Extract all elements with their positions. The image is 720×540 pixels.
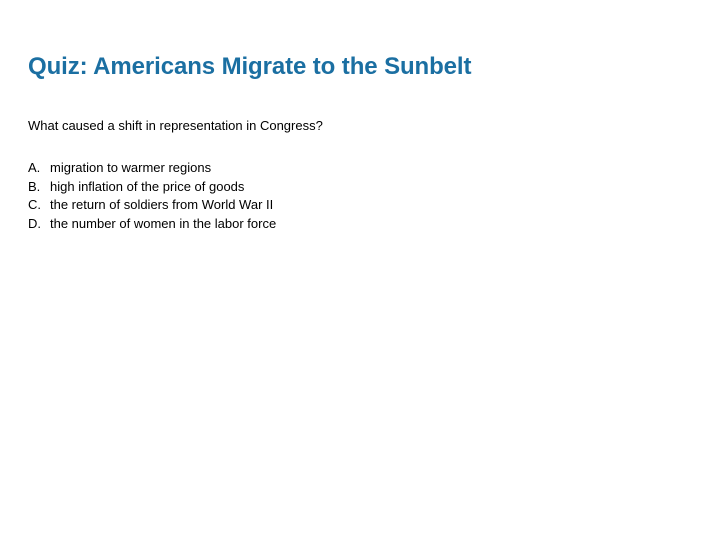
answer-options-list: A. migration to warmer regions B. high i… <box>28 159 688 233</box>
answer-text-a: migration to warmer regions <box>50 159 211 178</box>
answer-text-b: high inflation of the price of goods <box>50 178 244 197</box>
quiz-body: What caused a shift in representation in… <box>28 118 688 233</box>
answer-text-d: the number of women in the labor force <box>50 215 276 234</box>
answer-letter-c: C. <box>28 196 50 215</box>
answer-option-a[interactable]: A. migration to warmer regions <box>28 159 688 178</box>
answer-letter-d: D. <box>28 215 50 234</box>
quiz-slide: Quiz: Americans Migrate to the Sunbelt W… <box>0 0 720 540</box>
answer-letter-a: A. <box>28 159 50 178</box>
answer-option-b[interactable]: B. high inflation of the price of goods <box>28 178 688 197</box>
answer-text-c: the return of soldiers from World War II <box>50 196 273 215</box>
question-text: What caused a shift in representation in… <box>28 118 688 134</box>
answer-option-c[interactable]: C. the return of soldiers from World War… <box>28 196 688 215</box>
page-title: Quiz: Americans Migrate to the Sunbelt <box>28 53 692 81</box>
answer-option-d[interactable]: D. the number of women in the labor forc… <box>28 215 688 234</box>
answer-letter-b: B. <box>28 178 50 197</box>
